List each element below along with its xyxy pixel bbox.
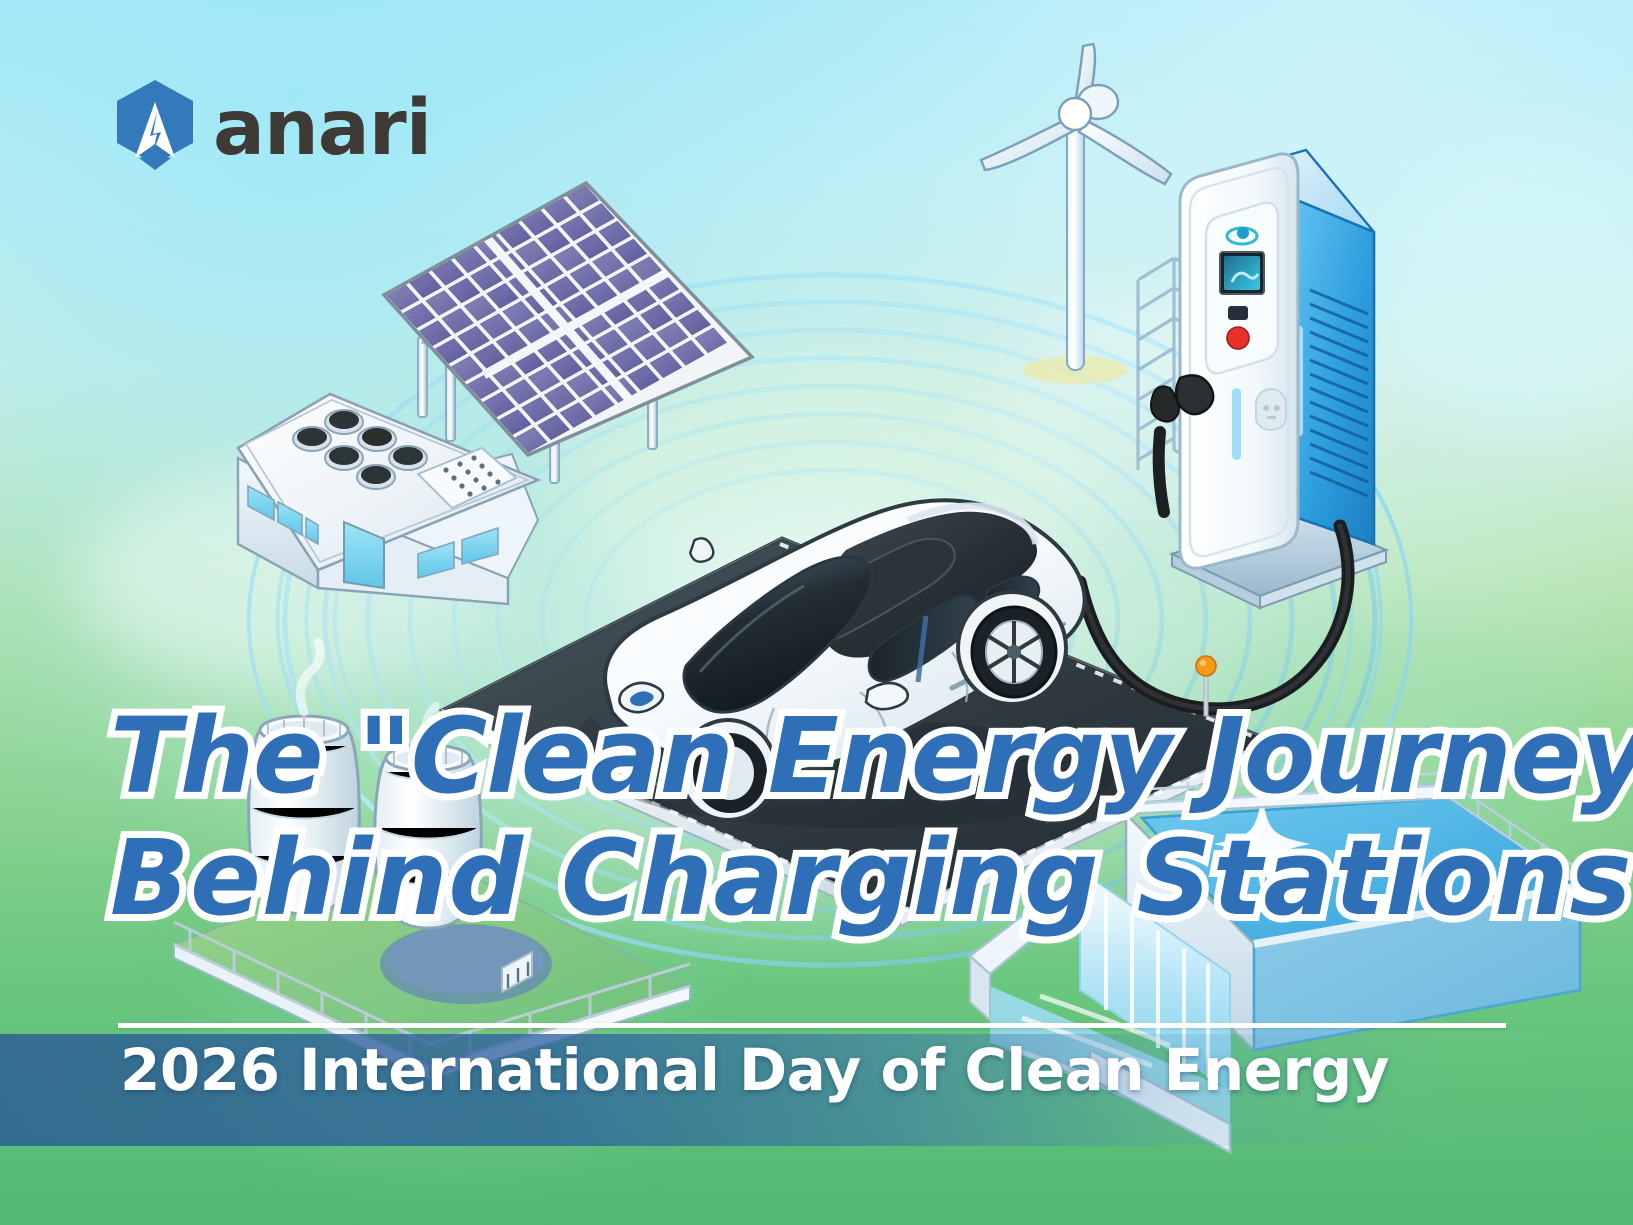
- grass-highlight: [1380, 140, 1633, 440]
- headline-line-2: Behind Charging Stations: [110, 818, 1530, 940]
- headline-line-1: The "Clean Energy Journey": [110, 696, 1530, 818]
- brand-logo[interactable]: anari: [113, 78, 431, 170]
- banner-label: 2026 International Day of Clean Energy: [120, 1036, 1389, 1104]
- hexagon-lightning-bolt-icon: [113, 78, 197, 170]
- page-title: The "Clean Energy Journey" Behind Chargi…: [110, 696, 1530, 939]
- brand-wordmark: anari: [213, 90, 431, 167]
- poster-canvas: anari The "Clean Energy Journey" Behind …: [0, 0, 1633, 1225]
- banner-divider: [118, 1023, 1506, 1028]
